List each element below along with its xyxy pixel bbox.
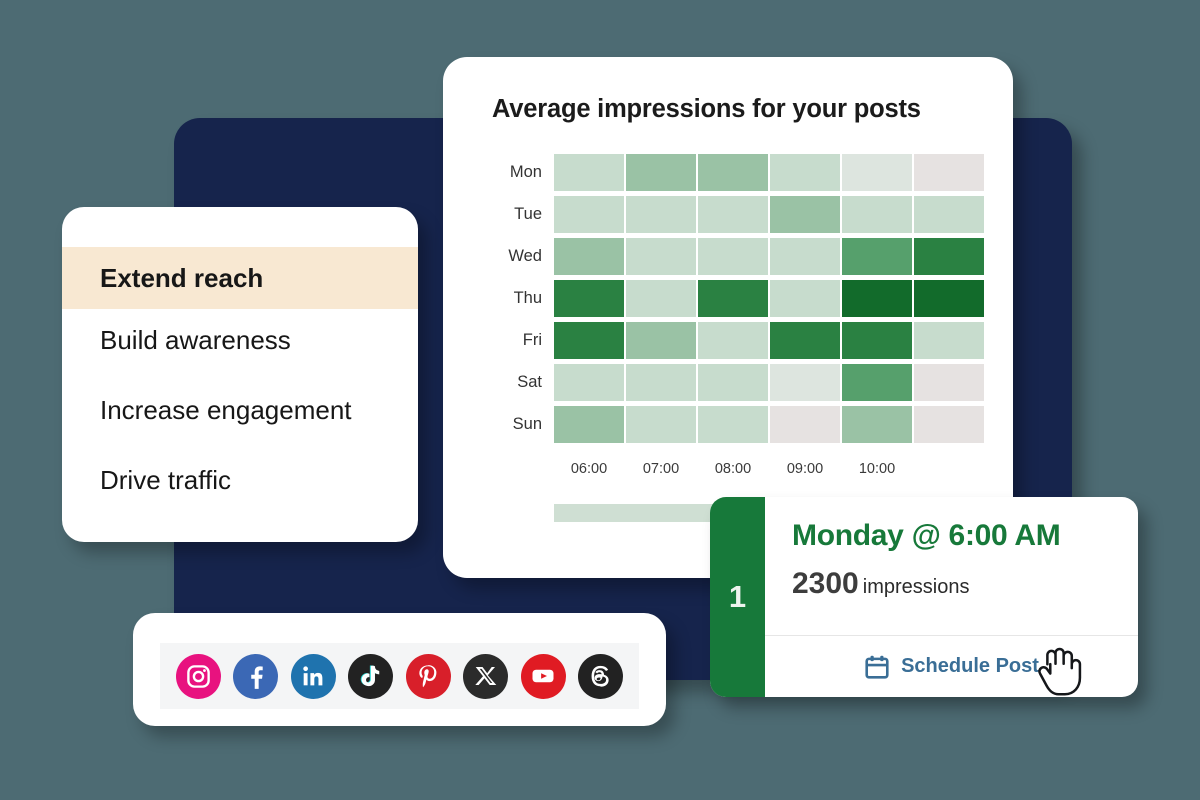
pinterest-icon[interactable] [406, 654, 451, 699]
threads-icon[interactable] [578, 654, 623, 699]
heatmap-cell[interactable] [914, 364, 984, 401]
heatmap-cell[interactable] [770, 154, 840, 191]
facebook-icon[interactable] [233, 654, 278, 699]
heatmap-cell[interactable] [770, 280, 840, 317]
heatmap-day-label: Sat [492, 373, 554, 392]
x-axis-tick-label [914, 461, 984, 477]
goals-menu-item[interactable]: Increase engagement [62, 379, 418, 441]
heatmap-x-axis: 06:0007:0008:0009:0010:00 [492, 461, 984, 477]
x-axis-tick-label: 08:00 [698, 461, 768, 477]
youtube-icon[interactable] [521, 654, 566, 699]
goals-menu-item[interactable]: Extend reach [62, 247, 418, 309]
heatmap-cell[interactable] [842, 322, 912, 359]
heatmap-cell[interactable] [698, 406, 768, 443]
x-axis-tick-label: 07:00 [626, 461, 696, 477]
x-axis-tick-label: 09:00 [770, 461, 840, 477]
heatmap-cell[interactable] [626, 406, 696, 443]
linkedin-icon[interactable] [291, 654, 336, 699]
goals-menu-item[interactable]: Drive traffic [62, 449, 418, 511]
heatmap-cell[interactable] [698, 154, 768, 191]
heatmap-row-cells [554, 196, 984, 233]
heatmap-row-cells [554, 280, 984, 317]
heatmap-row: Sat [492, 361, 984, 403]
heatmap-cell[interactable] [842, 280, 912, 317]
x-twitter-icon[interactable] [463, 654, 508, 699]
heatmap-cell[interactable] [626, 364, 696, 401]
instagram-icon[interactable] [176, 654, 221, 699]
page-title: Average impressions for your posts [492, 95, 921, 124]
heatmap-day-label: Wed [492, 247, 554, 266]
heatmap-cell[interactable] [554, 238, 624, 275]
chart-title-text: Average impressions for your posts [492, 95, 921, 123]
heatmap-cell[interactable] [554, 154, 624, 191]
tooltip-body: Monday @ 6:00 AM 2300impressions Schedul… [765, 497, 1138, 697]
heatmap-row-cells [554, 322, 984, 359]
heatmap-cell[interactable] [554, 364, 624, 401]
heatmap-cell[interactable] [626, 238, 696, 275]
goals-menu-item-label: Drive traffic [100, 465, 231, 496]
tooltip-content: Monday @ 6:00 AM 2300impressions [765, 497, 1138, 635]
schedule-post-button[interactable]: Schedule Post [765, 635, 1138, 697]
heatmap-cell[interactable] [770, 322, 840, 359]
x-axis-ticks: 06:0007:0008:0009:0010:00 [554, 461, 984, 477]
heatmap-cell[interactable] [914, 322, 984, 359]
heatmap-day-label: Fri [492, 331, 554, 350]
heatmap-cell[interactable] [914, 196, 984, 233]
heatmap-cell[interactable] [842, 364, 912, 401]
goals-menu-card: Extend reachBuild awarenessIncrease enga… [62, 207, 418, 542]
heatmap-row: Thu [492, 277, 984, 319]
heatmap-row: Sun [492, 403, 984, 445]
calendar-icon [864, 654, 890, 680]
heatmap-row-cells [554, 406, 984, 443]
heatmap-day-label: Sun [492, 415, 554, 434]
goals-menu-item-label: Extend reach [100, 263, 263, 294]
heatmap-cell[interactable] [626, 322, 696, 359]
best-time-label: Monday @ 6:00 AM [792, 519, 1138, 553]
heatmap-cell[interactable] [770, 364, 840, 401]
heatmap-row: Fri [492, 319, 984, 361]
rank-badge: 1 [710, 497, 765, 697]
goals-menu-item-label: Increase engagement [100, 395, 352, 426]
goals-menu-item-label: Build awareness [100, 325, 291, 356]
social-networks-card [133, 613, 666, 726]
heatmap-cell[interactable] [842, 154, 912, 191]
social-networks-strip [160, 643, 639, 709]
heatmap-cell[interactable] [698, 238, 768, 275]
heatmap-cell[interactable] [626, 154, 696, 191]
heatmap-cell[interactable] [842, 196, 912, 233]
heatmap-row-cells [554, 238, 984, 275]
impressions-metric: 2300impressions [792, 567, 1138, 601]
impressions-heatmap: MonTueWedThuFriSatSun [492, 151, 984, 445]
heatmap-cell[interactable] [626, 280, 696, 317]
heatmap-row-cells [554, 154, 984, 191]
x-axis-tick-label: 10:00 [842, 461, 912, 477]
heatmap-cell[interactable] [842, 406, 912, 443]
heatmap-row-cells [554, 364, 984, 401]
heatmap-cell[interactable] [554, 406, 624, 443]
goals-menu-list: Extend reachBuild awarenessIncrease enga… [62, 247, 418, 511]
heatmap-cell[interactable] [698, 322, 768, 359]
heatmap-cell[interactable] [554, 196, 624, 233]
heatmap-row: Wed [492, 235, 984, 277]
heatmap-cell[interactable] [770, 196, 840, 233]
heatmap-day-label: Mon [492, 163, 554, 182]
impressions-value: 2300 [792, 567, 859, 600]
heatmap-cell[interactable] [554, 280, 624, 317]
heatmap-cell[interactable] [770, 238, 840, 275]
best-time-tooltip-card: 1 Monday @ 6:00 AM 2300impressions Sc [710, 497, 1138, 697]
heatmap-cell[interactable] [914, 280, 984, 317]
heatmap-cell[interactable] [698, 364, 768, 401]
goals-menu-item[interactable]: Build awareness [62, 309, 418, 371]
heatmap-cell[interactable] [914, 238, 984, 275]
heatmap-cell[interactable] [914, 406, 984, 443]
heatmap-cell[interactable] [914, 154, 984, 191]
schedule-post-label: Schedule Post [901, 655, 1039, 678]
heatmap-day-label: Tue [492, 205, 554, 224]
heatmap-row: Mon [492, 151, 984, 193]
heatmap-cell[interactable] [554, 322, 624, 359]
heatmap-row: Tue [492, 193, 984, 235]
axis-spacer [492, 461, 554, 477]
heatmap-day-label: Thu [492, 289, 554, 308]
tiktok-icon[interactable] [348, 654, 393, 699]
heatmap-cell[interactable] [770, 406, 840, 443]
heatmap-cell[interactable] [698, 280, 768, 317]
x-axis-tick-label: 06:00 [554, 461, 624, 477]
heatmap-cell[interactable] [626, 196, 696, 233]
impressions-unit: impressions [863, 576, 970, 598]
page-root: Average impressions for your posts MonTu… [0, 0, 1200, 800]
heatmap-cell[interactable] [842, 238, 912, 275]
heatmap-cell[interactable] [698, 196, 768, 233]
